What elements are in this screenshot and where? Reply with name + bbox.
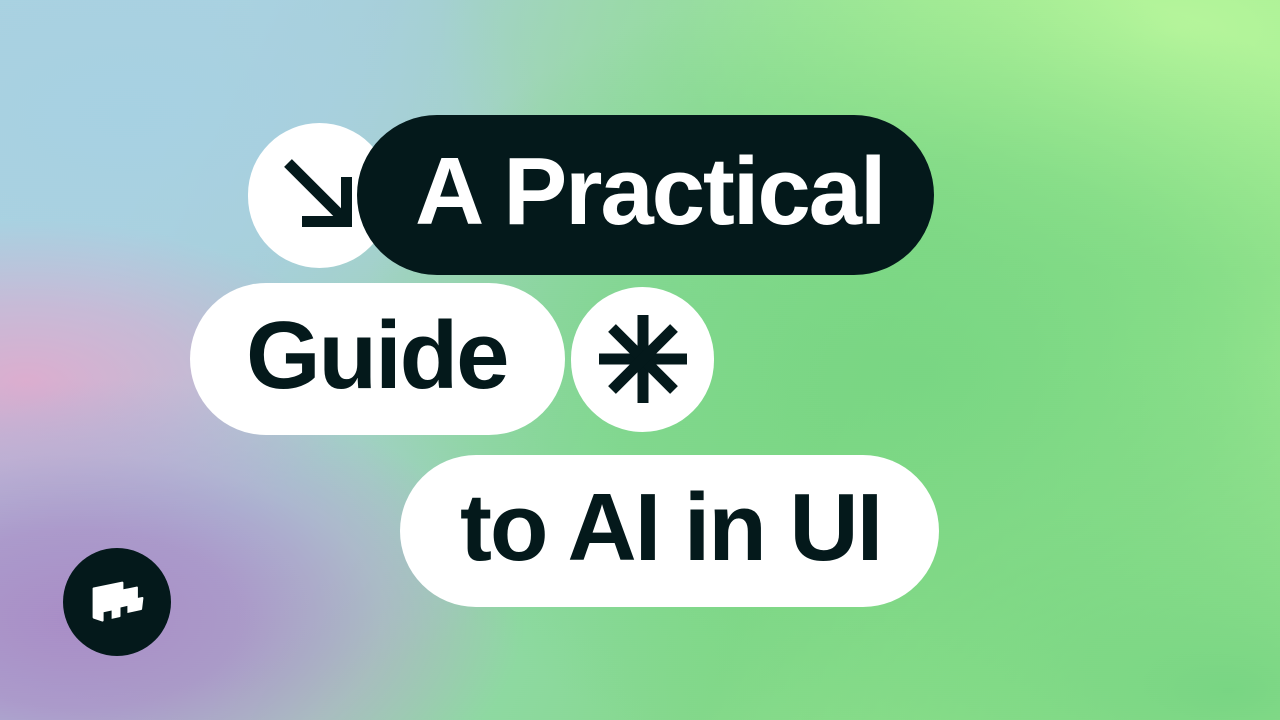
headline-line-2: Guide bbox=[190, 283, 714, 435]
headline-text-line-2: Guide bbox=[246, 308, 507, 404]
headline-text-line-3: to AI in UI bbox=[460, 480, 881, 576]
brand-logo[interactable] bbox=[63, 548, 171, 656]
headline-line-3: to AI in UI bbox=[400, 455, 939, 607]
headline-line-1: A Practical bbox=[248, 115, 934, 275]
lightning-flag-logo-icon bbox=[84, 569, 150, 635]
arrow-down-right-icon bbox=[272, 147, 368, 243]
asterisk-icon bbox=[591, 307, 695, 411]
poster-canvas: A Practical Guide bbox=[0, 0, 1280, 720]
asterisk-badge bbox=[571, 287, 714, 432]
headline-text-line-1: A Practical bbox=[415, 144, 884, 240]
headline-stack: A Practical Guide bbox=[0, 0, 1280, 720]
pill-to-ai-in-ui: to AI in UI bbox=[400, 455, 939, 607]
pill-guide: Guide bbox=[190, 283, 565, 435]
pill-a-practical: A Practical bbox=[357, 115, 934, 275]
